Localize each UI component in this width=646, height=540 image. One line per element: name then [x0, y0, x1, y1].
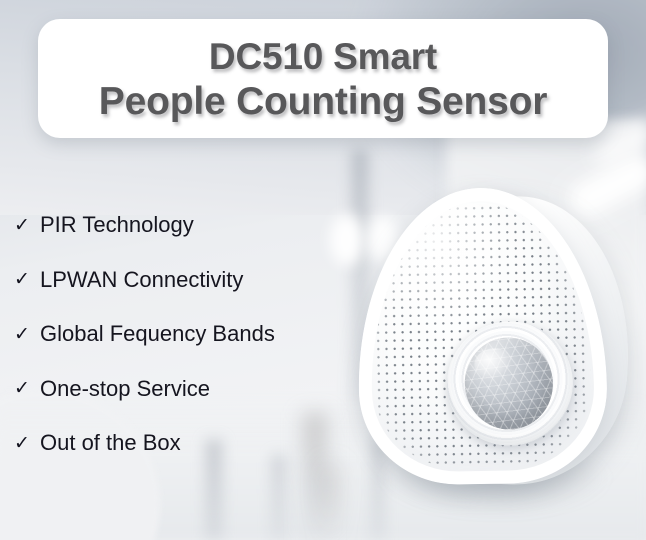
check-icon: ✓ — [14, 379, 40, 398]
fresnel-facet-pattern — [460, 333, 559, 435]
list-item: ✓ Out of the Box — [0, 416, 330, 471]
list-item: ✓ One-stop Service — [0, 362, 330, 417]
feature-label: One-stop Service — [40, 376, 210, 402]
feature-label: LPWAN Connectivity — [40, 267, 243, 293]
feature-list: ✓ PIR Technology ✓ LPWAN Connectivity ✓ … — [0, 198, 330, 471]
check-icon: ✓ — [14, 216, 40, 235]
check-icon: ✓ — [14, 270, 40, 289]
check-icon: ✓ — [14, 434, 40, 453]
feature-label: Out of the Box — [40, 430, 181, 456]
people-counting-sensor-device — [352, 188, 634, 490]
list-item: ✓ LPWAN Connectivity — [0, 253, 330, 308]
page-title-line-1: DC510 Smart — [209, 34, 437, 79]
feature-label: PIR Technology — [40, 212, 194, 238]
background-person-silhouette — [318, 462, 344, 540]
pir-sensor-module — [446, 320, 574, 446]
pir-dome-lens — [460, 333, 559, 435]
check-icon: ✓ — [14, 325, 40, 344]
product-poster: DC510 Smart People Counting Sensor ✓ PIR… — [0, 0, 646, 540]
title-card: DC510 Smart People Counting Sensor — [38, 19, 608, 138]
list-item: ✓ PIR Technology — [0, 198, 330, 253]
list-item: ✓ Global Fequency Bands — [0, 307, 330, 362]
feature-label: Global Fequency Bands — [40, 321, 275, 347]
page-title-line-2: People Counting Sensor — [99, 79, 547, 124]
